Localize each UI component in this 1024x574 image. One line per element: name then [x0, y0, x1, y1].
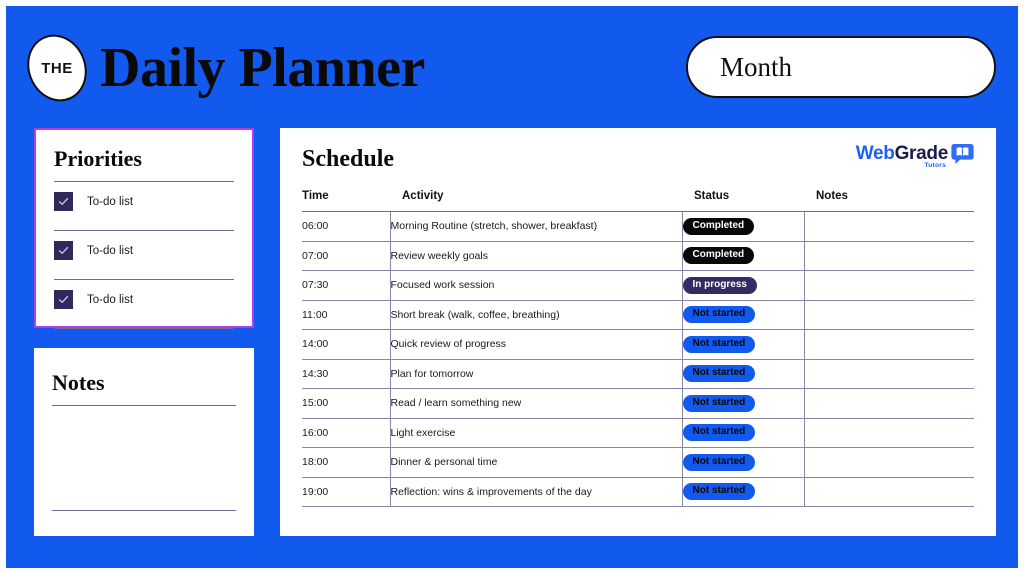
checkbox-icon[interactable]: [54, 192, 73, 211]
notes-title: Notes: [52, 370, 236, 396]
cell-notes[interactable]: [804, 448, 974, 478]
cell-time: 11:00: [302, 300, 390, 330]
cell-notes[interactable]: [804, 389, 974, 419]
list-item-label: To-do list: [87, 245, 133, 257]
cell-notes[interactable]: [804, 271, 974, 301]
table-row[interactable]: 07:00 Review weekly goals Completed: [302, 241, 974, 271]
cell-status: Not started: [682, 300, 804, 330]
status-badge: Not started: [683, 365, 756, 382]
status-badge: Not started: [683, 336, 756, 353]
cell-time: 14:30: [302, 359, 390, 389]
planner-canvas: THE Daily Planner Month Priorities To-do…: [0, 0, 1024, 574]
notes-bottom-rule: [52, 510, 236, 511]
cell-status: Not started: [682, 477, 804, 507]
status-badge: Not started: [683, 483, 756, 500]
cell-status: Completed: [682, 212, 804, 242]
cell-activity: Light exercise: [390, 418, 682, 448]
list-item-label: To-do list: [87, 196, 133, 208]
priorities-card: Priorities To-do list To-do list: [34, 128, 254, 328]
cell-notes[interactable]: [804, 300, 974, 330]
table-row[interactable]: 15:00 Read / learn something new Not sta…: [302, 389, 974, 419]
cell-activity: Quick review of progress: [390, 330, 682, 360]
column-header-notes: Notes: [804, 190, 974, 212]
cell-notes[interactable]: [804, 212, 974, 242]
table-row[interactable]: 18:00 Dinner & personal time Not started: [302, 448, 974, 478]
list-item[interactable]: To-do list: [54, 231, 234, 270]
cell-time: 14:00: [302, 330, 390, 360]
table-row[interactable]: 07:30 Focused work session In progress: [302, 271, 974, 301]
logo-word-grade: Grade: [895, 143, 948, 164]
cell-status: In progress: [682, 271, 804, 301]
logo-wordmark: WebGradeTutors: [856, 144, 948, 163]
cell-notes[interactable]: [804, 359, 974, 389]
cell-time: 07:30: [302, 271, 390, 301]
cell-notes[interactable]: [804, 241, 974, 271]
table-row[interactable]: 14:30 Plan for tomorrow Not started: [302, 359, 974, 389]
cell-notes[interactable]: [804, 477, 974, 507]
webgrade-logo: WebGradeTutors: [856, 144, 974, 171]
list-item[interactable]: To-do list: [54, 182, 234, 221]
table-row[interactable]: 06:00 Morning Routine (stretch, shower, …: [302, 212, 974, 242]
status-badge: Not started: [683, 306, 756, 323]
page-title: Daily Planner: [100, 36, 425, 100]
list-item[interactable]: To-do list: [54, 280, 234, 319]
column-header-time: Time: [302, 190, 390, 212]
cell-notes[interactable]: [804, 330, 974, 360]
the-badge: THE: [17, 26, 96, 111]
status-badge: Completed: [683, 247, 755, 264]
schedule-table: Time Activity Status Notes 06:00 Morning…: [302, 190, 974, 507]
month-selector[interactable]: Month: [686, 36, 996, 98]
cell-status: Not started: [682, 448, 804, 478]
checkbox-icon[interactable]: [54, 290, 73, 309]
logo-word-web: Web: [856, 143, 895, 164]
cell-notes[interactable]: [804, 418, 974, 448]
column-header-status: Status: [682, 190, 804, 212]
cell-time: 18:00: [302, 448, 390, 478]
status-badge: Not started: [683, 395, 756, 412]
schedule-header: Schedule WebGradeTutors: [302, 146, 974, 190]
logo-subtitle: Tutors: [924, 163, 946, 170]
cell-activity: Morning Routine (stretch, shower, breakf…: [390, 212, 682, 242]
cell-activity: Review weekly goals: [390, 241, 682, 271]
cell-time: 19:00: [302, 477, 390, 507]
cell-activity: Plan for tomorrow: [390, 359, 682, 389]
cell-time: 16:00: [302, 418, 390, 448]
cell-activity: Dinner & personal time: [390, 448, 682, 478]
cell-status: Not started: [682, 418, 804, 448]
table-header-row: Time Activity Status Notes: [302, 190, 974, 212]
cell-time: 07:00: [302, 241, 390, 271]
the-badge-label: THE: [41, 60, 73, 77]
priorities-list: To-do list To-do list To-do list: [54, 182, 234, 329]
table-row[interactable]: 14:00 Quick review of progress Not start…: [302, 330, 974, 360]
priorities-title: Priorities: [54, 146, 234, 172]
table-row[interactable]: 16:00 Light exercise Not started: [302, 418, 974, 448]
cell-activity: Short break (walk, coffee, breathing): [390, 300, 682, 330]
status-badge: In progress: [683, 277, 757, 294]
cell-status: Completed: [682, 241, 804, 271]
page-header: THE Daily Planner Month: [28, 28, 996, 110]
month-label: Month: [688, 52, 792, 83]
notes-input[interactable]: [52, 406, 236, 510]
notes-card: Notes: [34, 348, 254, 536]
status-badge: Completed: [683, 218, 755, 235]
cell-activity: Read / learn something new: [390, 389, 682, 419]
table-row[interactable]: 11:00 Short break (walk, coffee, breathi…: [302, 300, 974, 330]
cell-time: 06:00: [302, 212, 390, 242]
cell-status: Not started: [682, 330, 804, 360]
cell-status: Not started: [682, 359, 804, 389]
cell-activity: Focused work session: [390, 271, 682, 301]
cell-time: 15:00: [302, 389, 390, 419]
column-header-activity: Activity: [390, 190, 682, 212]
list-item-label: To-do list: [87, 294, 133, 306]
cell-status: Not started: [682, 389, 804, 419]
priorities-item-divider: [54, 328, 234, 329]
book-speech-bubble-icon: [951, 143, 974, 171]
table-row[interactable]: 19:00 Reflection: wins & improvements of…: [302, 477, 974, 507]
status-badge: Not started: [683, 424, 756, 441]
schedule-rows: 06:00 Morning Routine (stretch, shower, …: [302, 212, 974, 507]
cell-activity: Reflection: wins & improvements of the d…: [390, 477, 682, 507]
schedule-card: Schedule WebGradeTutors Time: [280, 128, 996, 536]
status-badge: Not started: [683, 454, 756, 471]
checkbox-icon[interactable]: [54, 241, 73, 260]
